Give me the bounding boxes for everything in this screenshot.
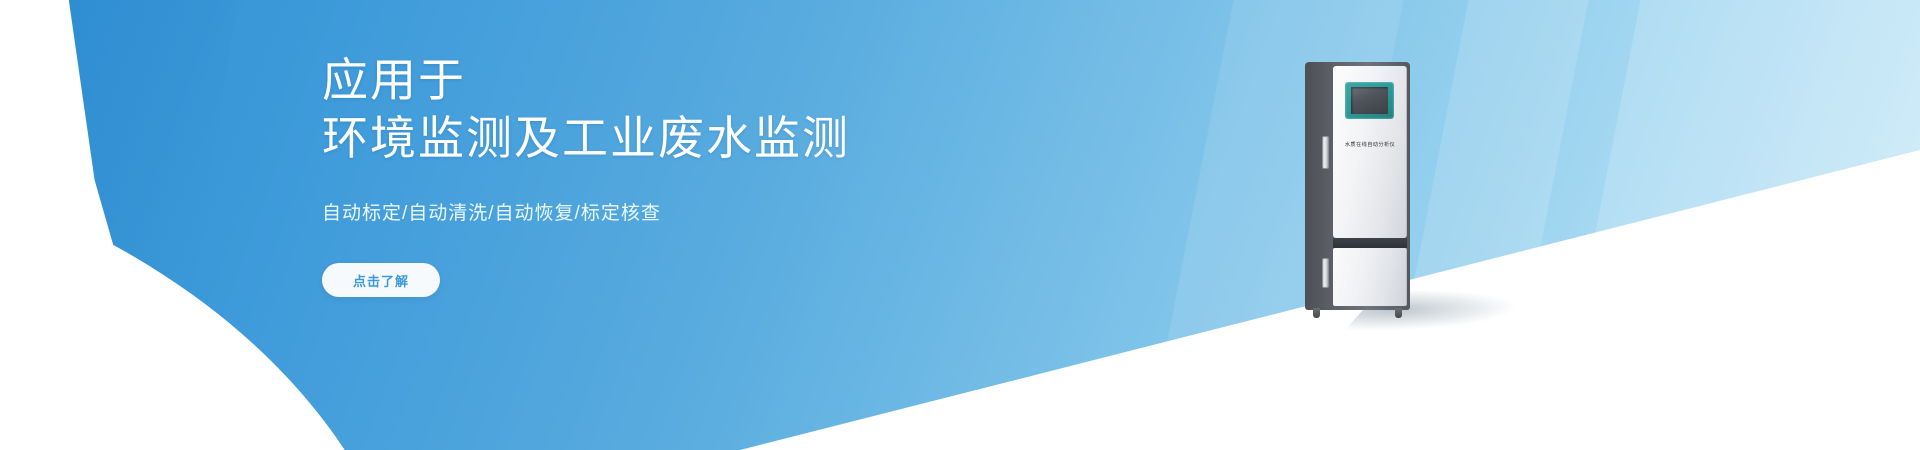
product-foot-right	[1395, 308, 1402, 318]
banner-subtitle: 自动标定/自动清洗/自动恢复/标定核查	[322, 200, 1142, 228]
headline-line-1: 应用于	[322, 52, 1142, 108]
product-image-water-analyzer: 水质在线自动分析仪	[1305, 62, 1445, 317]
product-screen-display	[1351, 87, 1388, 114]
product-upper-door-handle	[1322, 136, 1329, 169]
product-lower-door	[1333, 248, 1407, 306]
product-lower-door-handle	[1322, 258, 1329, 288]
banner-text-block: 应用于 环境监测及工业废水监测 自动标定/自动清洗/自动恢复/标定核查 点击了解	[322, 52, 1142, 297]
hero-banner: 应用于 环境监测及工业废水监测 自动标定/自动清洗/自动恢复/标定核查 点击了解…	[0, 0, 1920, 450]
headline-line-2: 环境监测及工业废水监测	[322, 110, 1142, 166]
product-door-seam	[1333, 238, 1407, 248]
product-foot-left	[1313, 308, 1320, 318]
product-screen-bezel	[1345, 82, 1394, 119]
product-label-text: 水质在线自动分析仪	[1335, 142, 1405, 149]
learn-more-button[interactable]: 点击了解	[322, 263, 440, 297]
